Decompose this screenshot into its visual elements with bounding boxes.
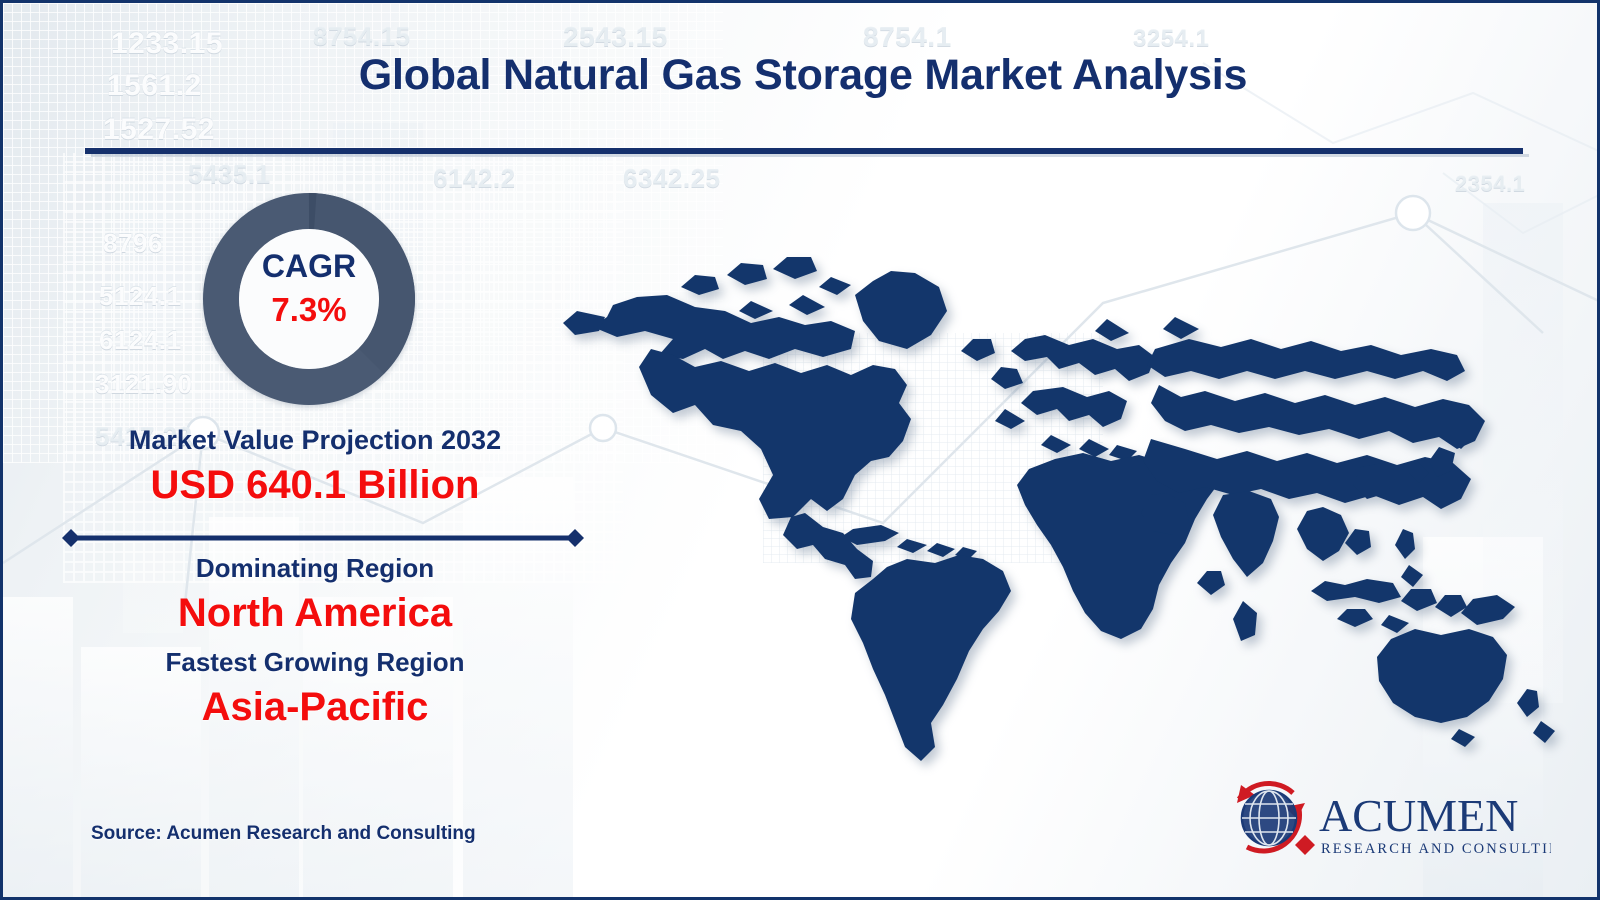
world-map xyxy=(555,199,1565,769)
page-title: Global Natural Gas Storage Market Analys… xyxy=(3,51,1600,100)
donut-value: 7.3% xyxy=(203,291,415,329)
background-number: 5435.1 xyxy=(188,159,271,190)
logo-wordmark: ACUMEN xyxy=(1319,790,1518,841)
market-value-label: Market Value Projection 2032 xyxy=(35,425,595,456)
background-number: 1527.52 xyxy=(103,113,215,147)
fastest-region-label: Fastest Growing Region xyxy=(35,647,595,678)
donut-label: CAGR xyxy=(203,248,415,285)
background-number: 8796 xyxy=(103,228,163,259)
header-rule xyxy=(85,148,1523,154)
fastest-region-value: Asia-Pacific xyxy=(35,685,595,730)
source-note: Source: Acumen Research and Consulting xyxy=(91,823,476,845)
header-rule-shadow xyxy=(91,154,1529,157)
cagr-donut-chart: CAGR 7.3% xyxy=(203,193,415,405)
background-number: 2543.15 xyxy=(563,21,668,53)
dominating-region-value: North America xyxy=(35,591,595,636)
globe-icon xyxy=(1242,791,1296,845)
red-diamond-icon xyxy=(1295,835,1315,855)
background-number: 5124.1 xyxy=(99,281,182,312)
background-number: 8754.15 xyxy=(313,21,410,52)
background-number: 6342.25 xyxy=(623,163,720,194)
background-number: 6142.2 xyxy=(433,163,516,194)
background-number: 3254.1 xyxy=(1133,25,1209,53)
stats-divider xyxy=(59,527,587,549)
background-number: 3121.90 xyxy=(95,369,192,400)
market-value-amount: USD 640.1 Billion xyxy=(35,463,595,508)
infographic-canvas: 1233.151561.21527.528754.152543.158754.1… xyxy=(0,0,1600,900)
acumen-logo: ACUMEN RESEARCH AND CONSULTING xyxy=(1221,773,1551,861)
background-number: 8754.1 xyxy=(863,21,952,53)
logo-tagline: RESEARCH AND CONSULTING xyxy=(1321,841,1551,857)
dominating-region-label: Dominating Region xyxy=(35,553,595,584)
background-number: 6124.1 xyxy=(99,325,182,356)
background-number: 2354.1 xyxy=(1455,171,1525,197)
